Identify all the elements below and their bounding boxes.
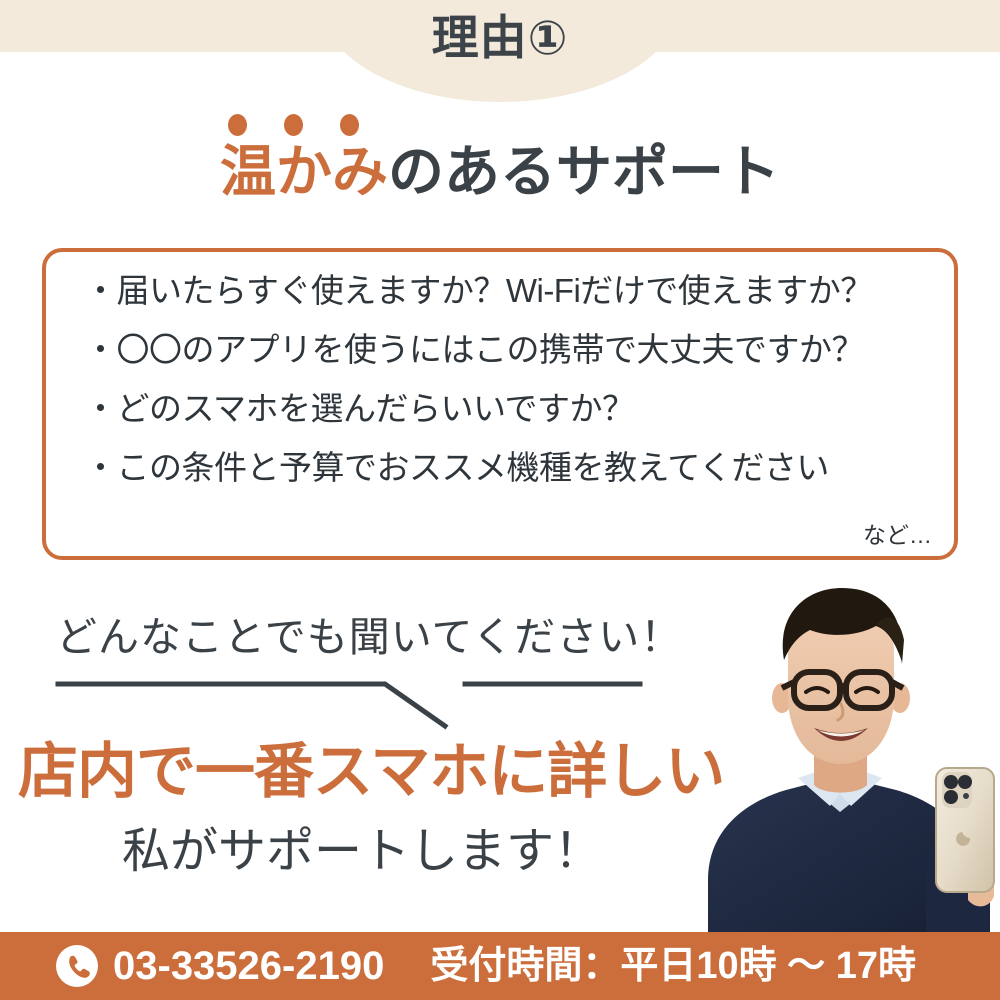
speech-underline-decoration [40, 660, 660, 730]
staff-photo [690, 580, 1000, 940]
phone-number[interactable]: 03-33526-2190 [113, 946, 384, 986]
etcetera-note: など… [863, 516, 932, 550]
emphasis-dots [222, 114, 382, 138]
headline-rest: のあるサポート [388, 140, 780, 203]
question-list: ・届いたらすぐ使えますか？Wi-Fiだけで使えますか？ ・〇〇のアプリを使うには… [84, 274, 934, 510]
list-item: ・この条件と予算でおススメ機種を教えてください [84, 451, 934, 484]
claim-sub-text: 私がサポートします！ [122, 828, 602, 876]
footer-contact-bar: 03-33526-2190 受付時間：平日10時 ～ 17時 [0, 932, 1000, 1000]
list-item: ・届いたらすぐ使えますか？Wi-Fiだけで使えますか？ [84, 274, 934, 307]
question-box: ・届いたらすぐ使えますか？Wi-Fiだけで使えますか？ ・〇〇のアプリを使うには… [42, 248, 958, 560]
page-title: 理由① [0, 14, 1000, 61]
phone-handset-icon [55, 944, 99, 988]
emphasis-dot-icon [284, 114, 303, 136]
emphasis-dot-icon [228, 114, 247, 136]
claim-strong-text: 店内で一番スマホに詳しい [18, 742, 724, 802]
list-item: ・〇〇のアプリを使うにはこの携帯で大丈夫ですか？ [84, 333, 934, 366]
headline-accent: 温かみ [220, 140, 388, 203]
list-item: ・どのスマホを選んだらいいですか？ [84, 392, 934, 425]
section-headline: 温かみのあるサポート [0, 140, 1000, 204]
emphasis-dot-icon [340, 114, 359, 136]
ask-anything-text: どんなことでも聞いてください！ [56, 603, 682, 663]
business-hours: 受付時間：平日10時 ～ 17時 [430, 947, 916, 985]
